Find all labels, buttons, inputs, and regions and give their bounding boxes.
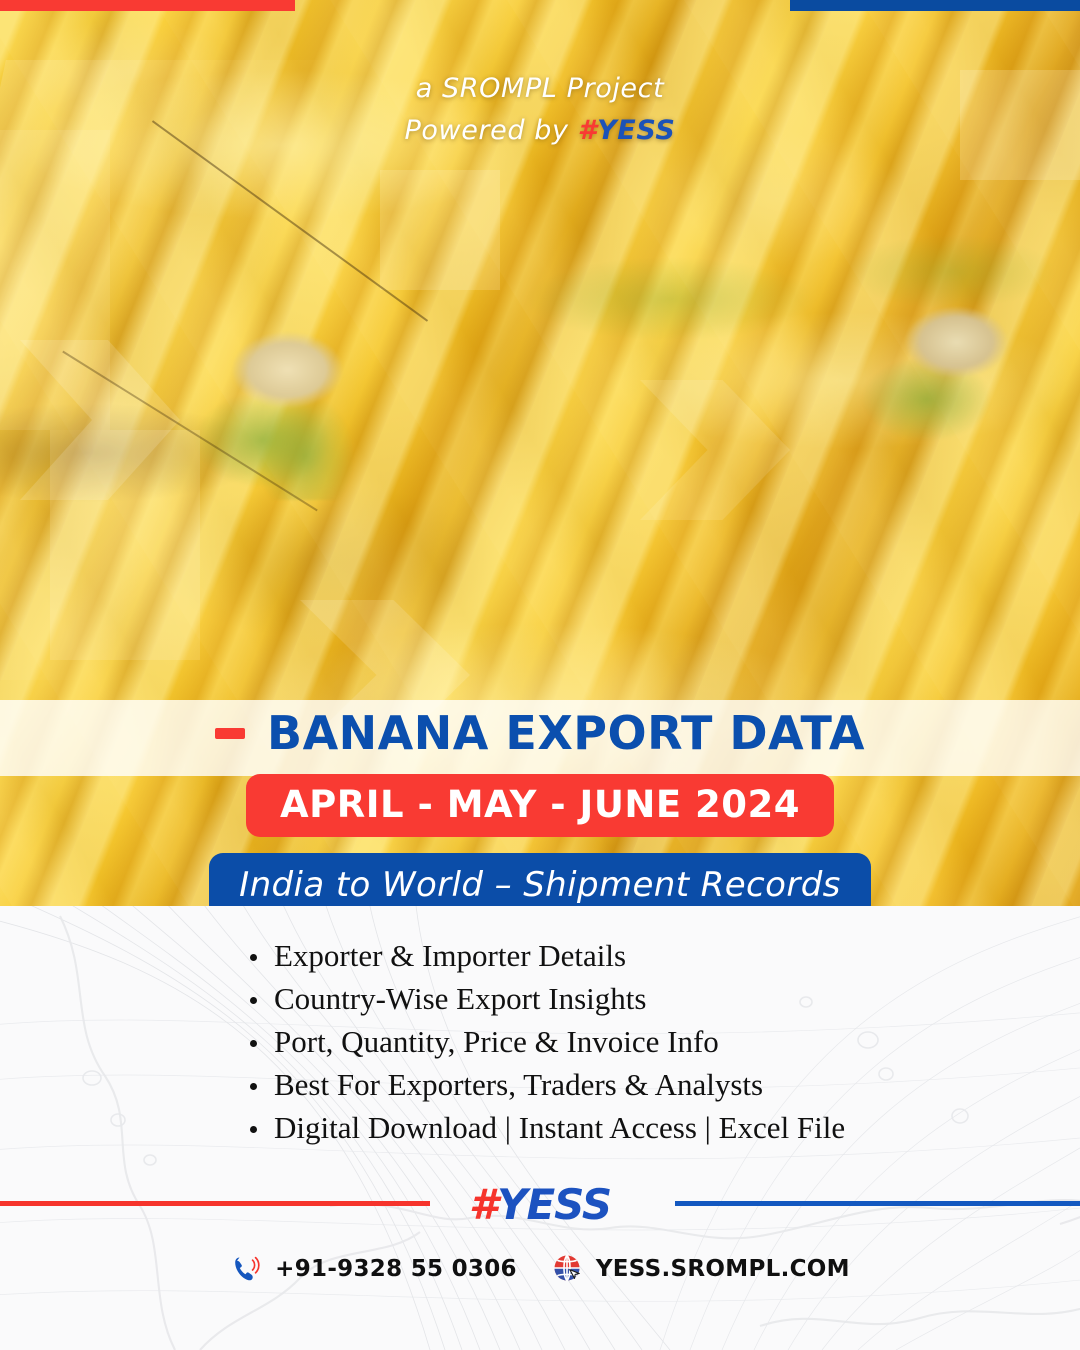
- top-accent-bar-red: [0, 0, 295, 11]
- red-dash-icon: [215, 728, 245, 739]
- yess-logo-hash: #: [469, 1180, 497, 1229]
- brand-credit: a SROMPL Project Powered by #YESS: [0, 68, 1080, 152]
- list-item: Best For Exporters, Traders & Analysts: [246, 1063, 845, 1106]
- list-item: Digital Download | Instant Access | Exce…: [246, 1106, 845, 1149]
- website-url: YESS.SROMPL.COM: [596, 1256, 850, 1282]
- powered-by-prefix: Powered by: [405, 115, 578, 146]
- top-accent-bar-blue: [790, 0, 1080, 11]
- period-badge: APRIL - MAY - JUNE 2024: [246, 774, 834, 837]
- project-credit-line: a SROMPL Project: [0, 68, 1080, 110]
- list-item: Exporter & Importer Details: [246, 934, 845, 977]
- website-contact[interactable]: YESS.SROMPL.COM: [551, 1252, 850, 1286]
- powered-by-line: Powered by #YESS: [0, 110, 1080, 152]
- banana-stem-cluster-right: [830, 270, 1060, 460]
- poster-root: a SROMPL Project Powered by #YESS BANANA…: [0, 0, 1080, 1350]
- list-item: Port, Quantity, Price & Invoice Info: [246, 1020, 845, 1063]
- headline-stack: BANANA EXPORT DATA APRIL - MAY - JUNE 20…: [0, 706, 1080, 919]
- contact-row: +91-9328 55 0306 YESS.SROMPL.COM: [0, 1252, 1080, 1286]
- yess-logo: #YESS: [0, 1180, 1080, 1229]
- feature-list: Exporter & Importer Details Country-Wise…: [246, 934, 845, 1149]
- hash-symbol: #: [578, 115, 597, 146]
- phone-number: +91-9328 55 0306: [275, 1256, 517, 1282]
- banana-stem-cluster: [150, 300, 400, 500]
- globe-cursor-icon: [551, 1252, 585, 1286]
- yess-logo-text: YESS: [497, 1180, 611, 1229]
- list-item: Country-Wise Export Insights: [246, 977, 845, 1020]
- page-title: BANANA EXPORT DATA: [267, 706, 865, 760]
- phone-icon: [230, 1252, 264, 1286]
- headline-row: BANANA EXPORT DATA: [0, 706, 1080, 760]
- yess-brand-name: YESS: [597, 115, 675, 146]
- phone-contact[interactable]: +91-9328 55 0306: [230, 1252, 517, 1286]
